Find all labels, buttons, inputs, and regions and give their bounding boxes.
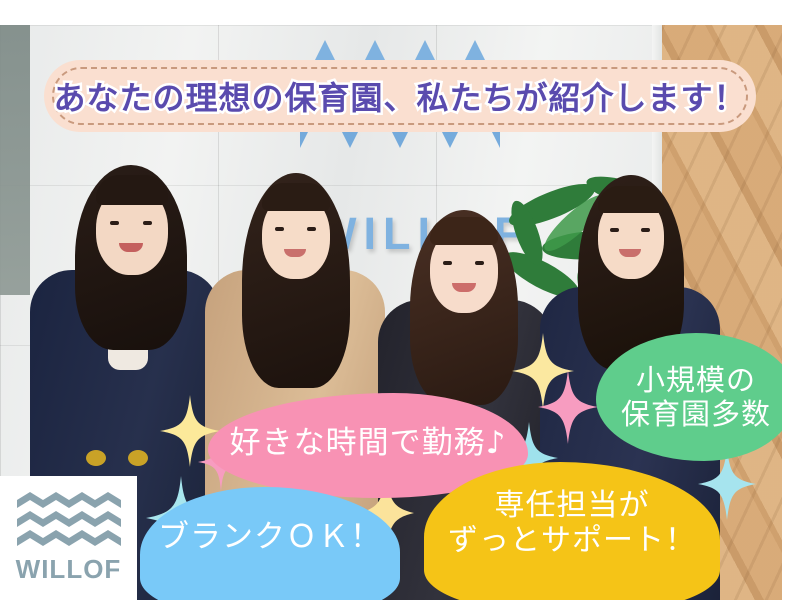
bubble-dedicated-support-line1: 専任担当が [448,488,696,523]
willof-logo: WILLOF [0,476,137,600]
willof-wordmark: WILLOF [16,554,122,585]
bubble-career-gap-ok-text: ブランクＯＫ！ [158,519,382,556]
bubble-small-nurseries-line2: 保育園多数 [621,397,771,431]
headline-text: あなたの理想の保育園、私たちが紹介します！ [53,73,746,119]
advertisement-banner: WILLOF [0,0,800,600]
wall-dark-panel [0,25,30,295]
bubble-flexible-hours-text: 好きな時間で勤務♪ [230,425,507,462]
headline-banner: あなたの理想の保育園、私たちが紹介します！ [44,60,756,132]
willof-zigzag-icon [17,492,121,550]
bubble-small-nurseries: 小規模の 保育園多数 [596,333,796,461]
right-margin [782,0,800,600]
top-margin [0,0,800,25]
bubble-small-nurseries-line1: 小規模の [621,363,771,397]
bubble-dedicated-support-line2: ずっとサポート！ [448,523,696,558]
